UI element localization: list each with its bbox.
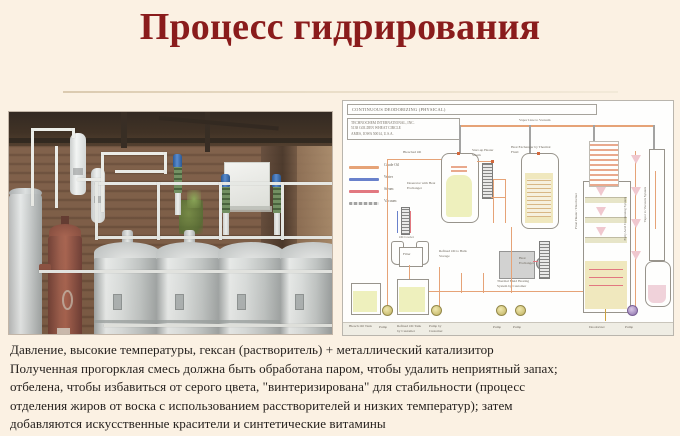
body-line-4: добавляются искусственные красители и си… <box>10 415 672 434</box>
page-title: Процесс гидрирования <box>0 8 680 48</box>
body-text: Давление, высокие температуры, гексан (р… <box>10 341 672 434</box>
slide-root: Процесс гидрирования <box>0 0 680 436</box>
body-line-3: отделения жиров от воска с использование… <box>10 397 672 416</box>
diagram-haze-overlay <box>343 101 673 335</box>
body-line-0: Давление, высокие температуры, гексан (р… <box>10 341 672 360</box>
photo-haze-overlay <box>9 112 332 334</box>
hydrogenation-plant-photo <box>9 112 332 334</box>
deodorizing-process-diagram: CONTINUOUS DEODORIZING (PHYSICAL) TECHNO… <box>342 100 674 336</box>
body-line-2: отбелена, чтобы избавиться от серого цве… <box>10 378 672 397</box>
title-divider <box>63 91 618 93</box>
body-line-1: Полученная прогорклая смесь должна быть … <box>10 360 672 379</box>
